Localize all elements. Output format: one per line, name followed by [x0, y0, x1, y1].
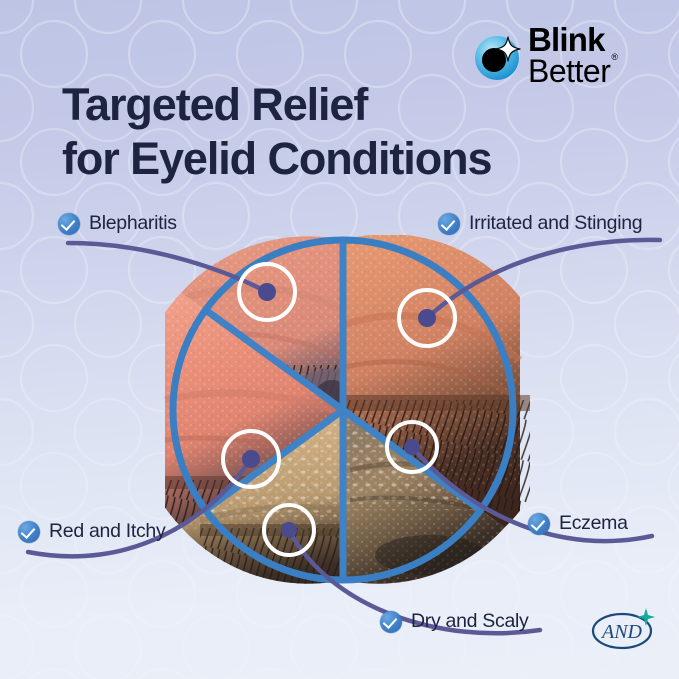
label-dry-text: Dry and Scaly: [411, 610, 528, 633]
leader-lines: [28, 240, 660, 633]
page-title: Targeted Relief for Eyelid Conditions: [62, 78, 602, 185]
label-irritated-text: Irritated and Stinging: [469, 212, 642, 235]
label-eczema-text: Eczema: [559, 512, 628, 535]
headline-line-2: for Eyelid Conditions: [62, 132, 602, 186]
label-blepharitis-text: Blepharitis: [89, 212, 177, 235]
label-red-and-itchy: Red and Itchy: [18, 520, 165, 543]
eye-sparkle-icon: [472, 31, 524, 83]
leader-line-irritated: [427, 240, 660, 318]
and-logo-text: AND: [600, 621, 643, 643]
pie-segment-red: [165, 285, 385, 550]
check-circle-icon: [380, 611, 402, 633]
pie-segment-blepharitis: [170, 235, 390, 485]
marker-dots: [242, 283, 436, 538]
check-circle-icon: [18, 521, 40, 543]
pie-segment-dry: [180, 400, 510, 590]
label-red-text: Red and Itchy: [49, 520, 165, 543]
pie-segment-eczema: [300, 380, 530, 600]
label-irritated-and-stinging: Irritated and Stinging: [438, 212, 642, 235]
check-circle-icon: [58, 213, 80, 235]
label-eczema: Eczema: [528, 512, 628, 535]
and-oval-star-logo: AND: [588, 602, 660, 654]
pie-outline: [173, 240, 513, 580]
marker-rings: [223, 264, 455, 555]
headline-line-1: Targeted Relief: [62, 78, 602, 132]
logo-line1: Blink: [528, 24, 617, 56]
check-circle-icon: [528, 513, 550, 535]
pie-segment-irritated: [170, 235, 530, 585]
pie-segment-dividers: [178, 236, 508, 584]
label-blepharitis: Blepharitis: [58, 212, 177, 235]
label-dry-and-scaly: Dry and Scaly: [380, 610, 528, 633]
registered-mark: ®: [611, 52, 617, 62]
leader-line-blepharitis: [68, 243, 267, 292]
check-circle-icon: [438, 213, 460, 235]
